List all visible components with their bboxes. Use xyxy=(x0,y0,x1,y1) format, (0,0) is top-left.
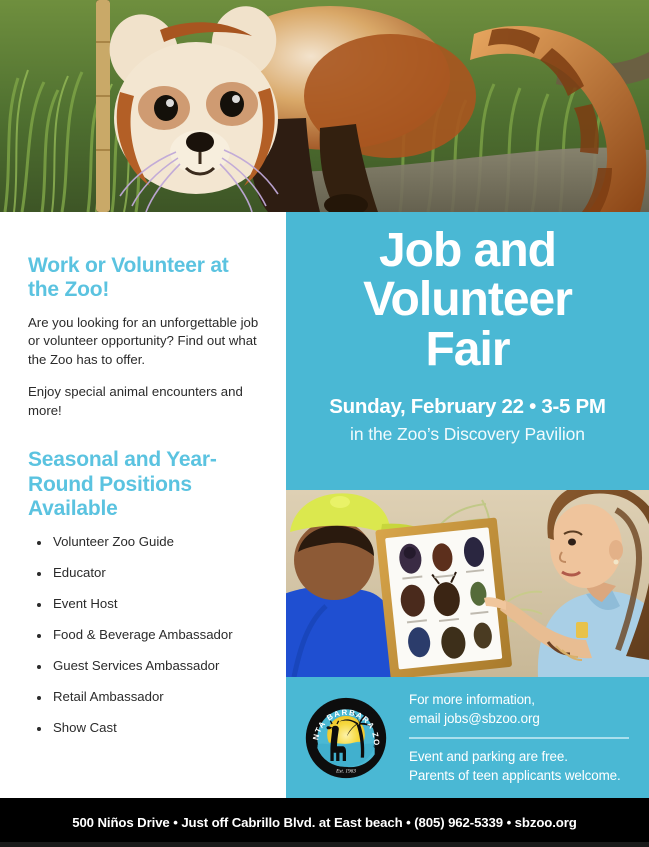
educator-photo xyxy=(286,490,649,677)
footer-bar: 500 Niños Drive • Just off Cabrillo Blvd… xyxy=(0,798,649,847)
zoo-logo-icon: SANTA BARBARA ZOO Est. 1963 xyxy=(305,697,387,779)
educator-and-child-illustration xyxy=(286,490,649,677)
red-panda-illustration xyxy=(0,0,649,212)
contact-info-line-1: For more information, xyxy=(409,690,635,709)
list-item: Volunteer Zoo Guide xyxy=(28,534,264,551)
headline-line-1: Job and xyxy=(286,226,649,275)
work-or-volunteer-heading: Work or Volunteer at the Zoo! xyxy=(28,254,264,303)
hero-photo xyxy=(0,0,649,212)
list-item: Event Host xyxy=(28,596,264,613)
list-item: Educator xyxy=(28,565,264,582)
encounters-paragraph: Enjoy special animal encounters and more… xyxy=(28,383,264,420)
event-date-time: Sunday, February 22 • 3-5 PM xyxy=(286,395,649,419)
contact-text-block: For more information, email jobs@sbzoo.o… xyxy=(409,690,635,785)
contact-email-line: email jobs@sbzoo.org xyxy=(409,709,635,728)
santa-barbara-zoo-logo: SANTA BARBARA ZOO Est. 1963 xyxy=(305,697,387,779)
right-column: Job and Volunteer Fair Sunday, February … xyxy=(286,212,649,798)
contact-divider xyxy=(409,737,629,739)
logo-established-text: Est. 1963 xyxy=(335,768,356,774)
intro-paragraph: Are you looking for an unforgettable job… xyxy=(28,314,264,370)
list-item: Show Cast xyxy=(28,720,264,737)
positions-list: Volunteer Zoo Guide Educator Event Host … xyxy=(28,534,264,736)
headline-panel: Job and Volunteer Fair Sunday, February … xyxy=(286,212,649,490)
list-item: Guest Services Ambassador xyxy=(28,658,264,675)
headline-line-2: Volunteer xyxy=(286,275,649,324)
parking-note-line: Event and parking are free. xyxy=(409,747,635,766)
contact-panel: SANTA BARBARA ZOO Est. 1963 For more inf… xyxy=(286,677,649,798)
list-item: Food & Beverage Ambassador xyxy=(28,627,264,644)
parents-welcome-line: Parents of teen applicants welcome. xyxy=(409,766,635,785)
positions-heading: Seasonal and Year-Round Positions Availa… xyxy=(28,448,264,521)
footer-base-strip xyxy=(0,842,649,847)
left-info-column: Work or Volunteer at the Zoo! Are you lo… xyxy=(0,212,286,798)
event-venue: in the Zoo’s Discovery Pavilion xyxy=(286,424,649,445)
headline-line-3: Fair xyxy=(286,325,649,374)
footer-address-text: 500 Niños Drive • Just off Cabrillo Blvd… xyxy=(72,815,577,830)
list-item: Retail Ambassador xyxy=(28,689,264,706)
